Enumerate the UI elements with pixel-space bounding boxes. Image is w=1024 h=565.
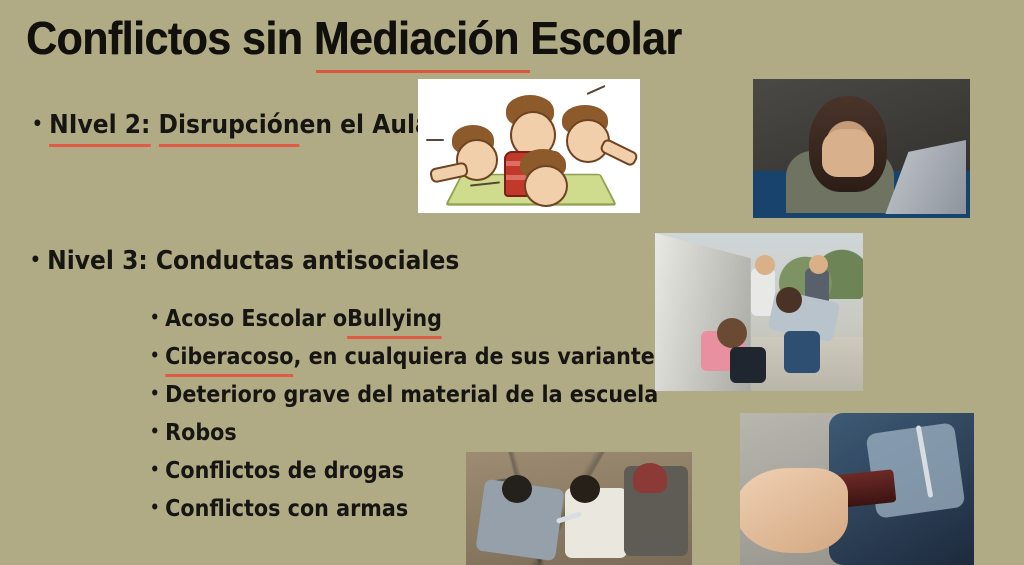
- list-item-underlined: Bullying: [347, 306, 442, 332]
- photo-attacker-left-head: [502, 475, 532, 503]
- photo-girl-hands: [822, 129, 874, 177]
- photo-victim-center-head: [570, 475, 600, 503]
- photo-bully-head: [776, 287, 802, 313]
- cartoon-paper-plane: [586, 85, 605, 95]
- list-item-pre: Conflictos con armas: [165, 496, 408, 522]
- photo-bystander-right-head: [809, 255, 828, 274]
- backpack-theft-photo: [740, 413, 974, 565]
- level2-topic-rest: en el Aula: [299, 110, 430, 140]
- list-item: • Ciberacoso , en cualquiera de sus vari…: [150, 344, 667, 370]
- bullet-dot-icon: •: [32, 116, 43, 135]
- list-item-pre: Robos: [165, 420, 237, 446]
- bullet-dot-icon: •: [150, 310, 160, 327]
- photo-thief-hand: [740, 468, 848, 553]
- presentation-slide: Conflictos sin Mediación Escolar • NIvel…: [0, 0, 1024, 565]
- list-item-pre: Acoso Escolar o: [165, 306, 347, 332]
- page-title: Conflictos sin Mediación Escolar: [26, 12, 681, 64]
- list-item-pre: Conflictos de drogas: [165, 458, 404, 484]
- cartoon-projectile: [426, 139, 444, 141]
- list-item-post: , en cualquiera de sus variantes: [294, 344, 668, 370]
- list-item: • Robos: [150, 420, 667, 446]
- weapons-conflict-photo: [466, 452, 692, 565]
- classroom-disruption-cartoon: [418, 79, 640, 213]
- photo-victim-legs: [730, 347, 766, 383]
- list-item: • Deterioro grave del material de la esc…: [150, 382, 667, 408]
- bullet-level-2: • NIvel 2: Disrupción en el Aula: [32, 110, 431, 140]
- title-underline-secondary: [424, 70, 530, 73]
- bullet-dot-icon: •: [30, 252, 41, 271]
- photo-bystander-left-head: [755, 255, 775, 275]
- list-item-pre: Deterioro grave del material de la escue…: [165, 382, 658, 408]
- photo-bully-legs: [784, 331, 820, 373]
- list-item: • Acoso Escolar o Bullying: [150, 306, 667, 332]
- bullet-dot-icon: •: [150, 386, 160, 403]
- bullet-dot-icon: •: [150, 462, 160, 479]
- cyberbullying-girl-laptop-photo: [753, 79, 970, 218]
- bullet-dot-icon: •: [150, 500, 160, 517]
- bullet-dot-icon: •: [150, 348, 160, 365]
- bullet-dot-icon: •: [150, 424, 160, 441]
- schoolyard-bullying-photo: [655, 233, 863, 391]
- bullet-level-3: • Nivel 3: Conductas antisociales: [30, 246, 459, 276]
- level2-topic-underlined: Disrupción: [159, 110, 300, 140]
- list-item-underlined: Ciberacoso: [165, 344, 293, 370]
- level2-label: NIvel 2:: [49, 110, 150, 140]
- photo-attacker-right-hood: [633, 463, 667, 493]
- level3-label: Nivel 3: Conductas antisociales: [47, 246, 459, 276]
